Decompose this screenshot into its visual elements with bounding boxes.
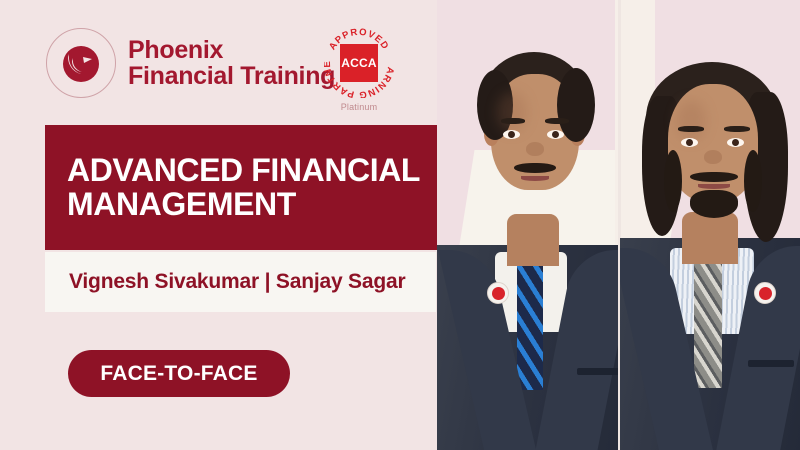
acca-tier-label: Platinum — [313, 102, 405, 112]
portrait-left — [437, 0, 623, 450]
course-title-line1: ADVANCED FINANCIAL — [67, 154, 420, 188]
page-title: ADVANCED FINANCIAL MANAGEMENT — [45, 154, 420, 222]
acca-approved-learning-partner-icon: APPROVED LEARNING PARTNER ACCA Platinum — [313, 22, 405, 122]
eyebrow-left — [501, 118, 525, 124]
presenter-photos — [437, 0, 800, 450]
mouth — [521, 176, 549, 181]
nose — [526, 142, 544, 156]
brand-wordmark: Phoenix Financial Training — [128, 37, 335, 89]
jacket-pocket — [748, 360, 794, 367]
presenters-band: Vignesh Sivakumar | Sanjay Sagar — [45, 252, 436, 312]
beard-jaw-right — [744, 150, 762, 212]
necktie — [517, 262, 543, 390]
eyebrow-right — [724, 126, 750, 132]
neck — [507, 214, 559, 266]
nose — [704, 150, 722, 164]
eye-left — [681, 138, 698, 147]
goatee-beard — [690, 190, 738, 218]
portrait-right — [620, 0, 800, 450]
jacket-pocket — [577, 368, 621, 375]
face-shading — [497, 92, 527, 132]
moustache — [690, 172, 738, 182]
eyebrow-right — [545, 118, 569, 124]
presenters-names: Vignesh Sivakumar | Sanjay Sagar — [45, 270, 405, 294]
neck — [682, 212, 738, 264]
status-badge: FACE-TO-FACE — [100, 362, 257, 386]
eye-right — [547, 130, 564, 139]
acca-mark-label: ACCA — [341, 56, 376, 70]
brand-name-line2: Financial Training — [128, 63, 335, 89]
face-shading — [676, 100, 706, 140]
course-title-band: ADVANCED FINANCIAL MANAGEMENT — [45, 125, 437, 250]
course-promo-banner: Phoenix Financial Training APPROVED LEAR… — [0, 0, 800, 450]
hair-side-right — [557, 68, 595, 142]
eye-right — [727, 138, 744, 147]
brand-name-line1: Phoenix — [128, 37, 335, 63]
beard-jaw-left — [664, 150, 682, 212]
eye-left — [503, 130, 520, 139]
phoenix-lapel-pin-icon — [487, 282, 509, 304]
phoenix-lapel-pin-icon — [754, 282, 776, 304]
delivery-format-badge[interactable]: FACE-TO-FACE — [68, 350, 290, 397]
necktie — [694, 256, 722, 388]
acca-mark: ACCA — [340, 44, 378, 82]
eyebrow-left — [678, 126, 704, 132]
course-title-line2: MANAGEMENT — [67, 188, 420, 222]
brand-logo: Phoenix Financial Training — [46, 28, 335, 98]
mouth — [698, 184, 730, 189]
moustache — [514, 163, 556, 173]
phoenix-bird-icon — [46, 28, 116, 98]
